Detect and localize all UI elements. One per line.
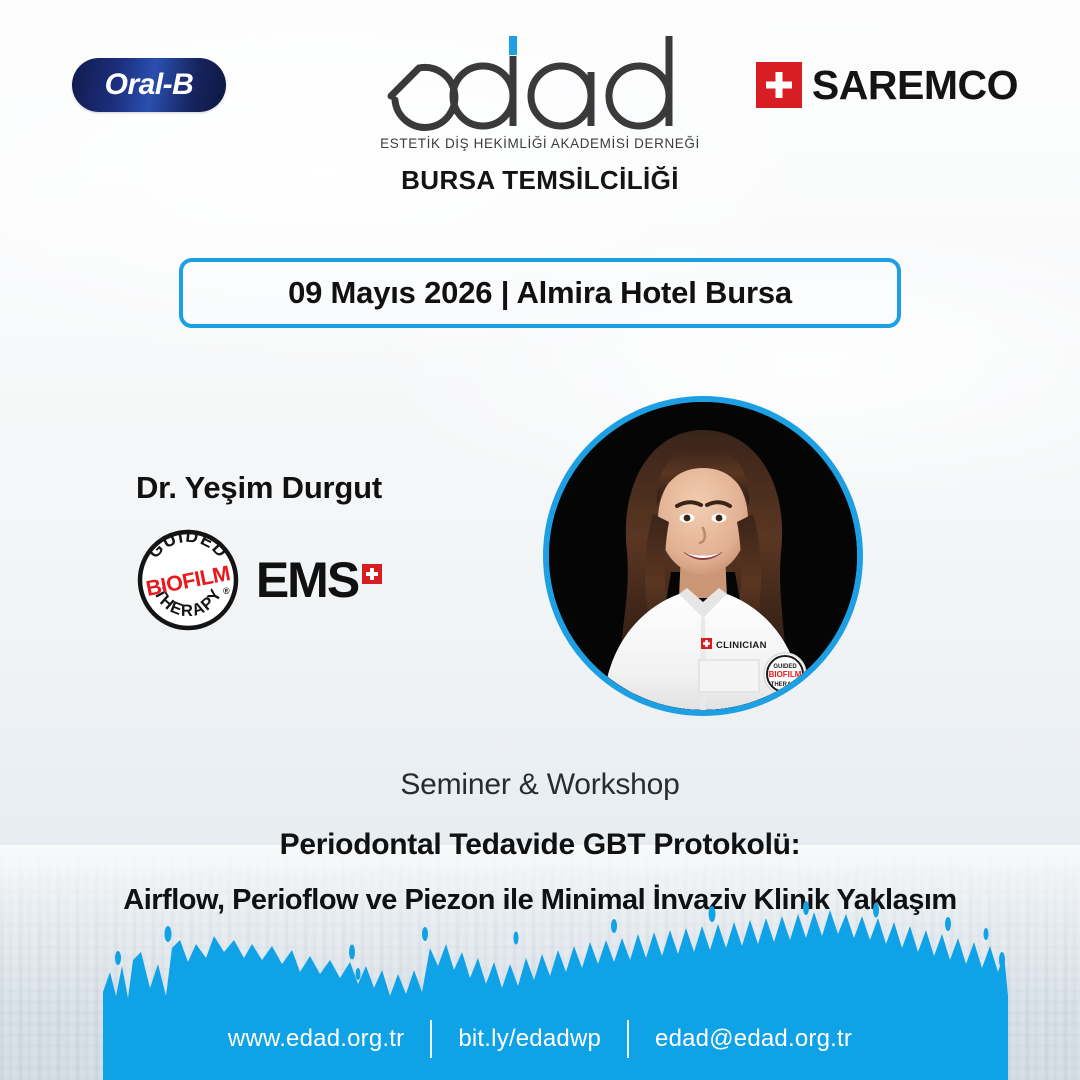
affiliation-logo-row: GUIDED THERAPY BIOFILM ® EMS [24, 528, 494, 632]
whatsapp-link[interactable]: bit.ly/edadwp [432, 1025, 627, 1053]
edad-wordmark [370, 28, 710, 140]
session-title-line-1: Periodontal Tedavide GBT Protokolü: [0, 828, 1080, 862]
website-link[interactable]: www.edad.org.tr [202, 1025, 430, 1053]
poster-canvas: Oral-B [0, 0, 1080, 1080]
oralb-logo: Oral-B [72, 58, 226, 112]
footer-contact-links: www.edad.org.tr bit.ly/edadwp edad@edad.… [0, 1020, 1080, 1058]
event-date-banner: 09 Mayıs 2026 | Almira Hotel Bursa [179, 258, 901, 328]
ems-logo-text: EMS [256, 558, 358, 603]
ems-logo: EMS [256, 558, 382, 603]
svg-text:THERAPY: THERAPY [771, 682, 800, 688]
svg-text:®: ® [223, 586, 230, 596]
speaker-name: Dr. Yeşim Durgut [24, 470, 494, 506]
swiss-cross-icon [756, 62, 802, 108]
session-kicker: Seminer & Workshop [0, 768, 1080, 802]
svg-text:BIOFILM: BIOFILM [769, 670, 802, 679]
sponsor-logo-row: Oral-B [0, 0, 1080, 165]
speaker-portrait-image: CLINICIAN GUIDED BIOFILM THERAPY [549, 402, 857, 710]
edad-logo: ESTETİK DİŞ HEKİMLİĞİ AKADEMİSİ DERNEĞİ [370, 28, 710, 151]
oralb-logo-text: Oral-B [105, 70, 194, 100]
saremco-logo-text: SAREMCO [812, 65, 1018, 106]
gbt-badge-logo: GUIDED THERAPY BIOFILM ® [136, 528, 240, 632]
swiss-cross-icon [362, 564, 382, 584]
saremco-logo: SAREMCO [756, 62, 1018, 108]
event-date-venue-text: 09 Mayıs 2026 | Almira Hotel Bursa [288, 275, 792, 311]
svg-text:CLINICIAN: CLINICIAN [716, 640, 767, 651]
speaker-portrait: CLINICIAN GUIDED BIOFILM THERAPY [543, 396, 863, 716]
edad-branch-label: BURSA TEMSİLCİLİĞİ [401, 165, 679, 196]
email-link[interactable]: edad@edad.org.tr [629, 1025, 878, 1053]
